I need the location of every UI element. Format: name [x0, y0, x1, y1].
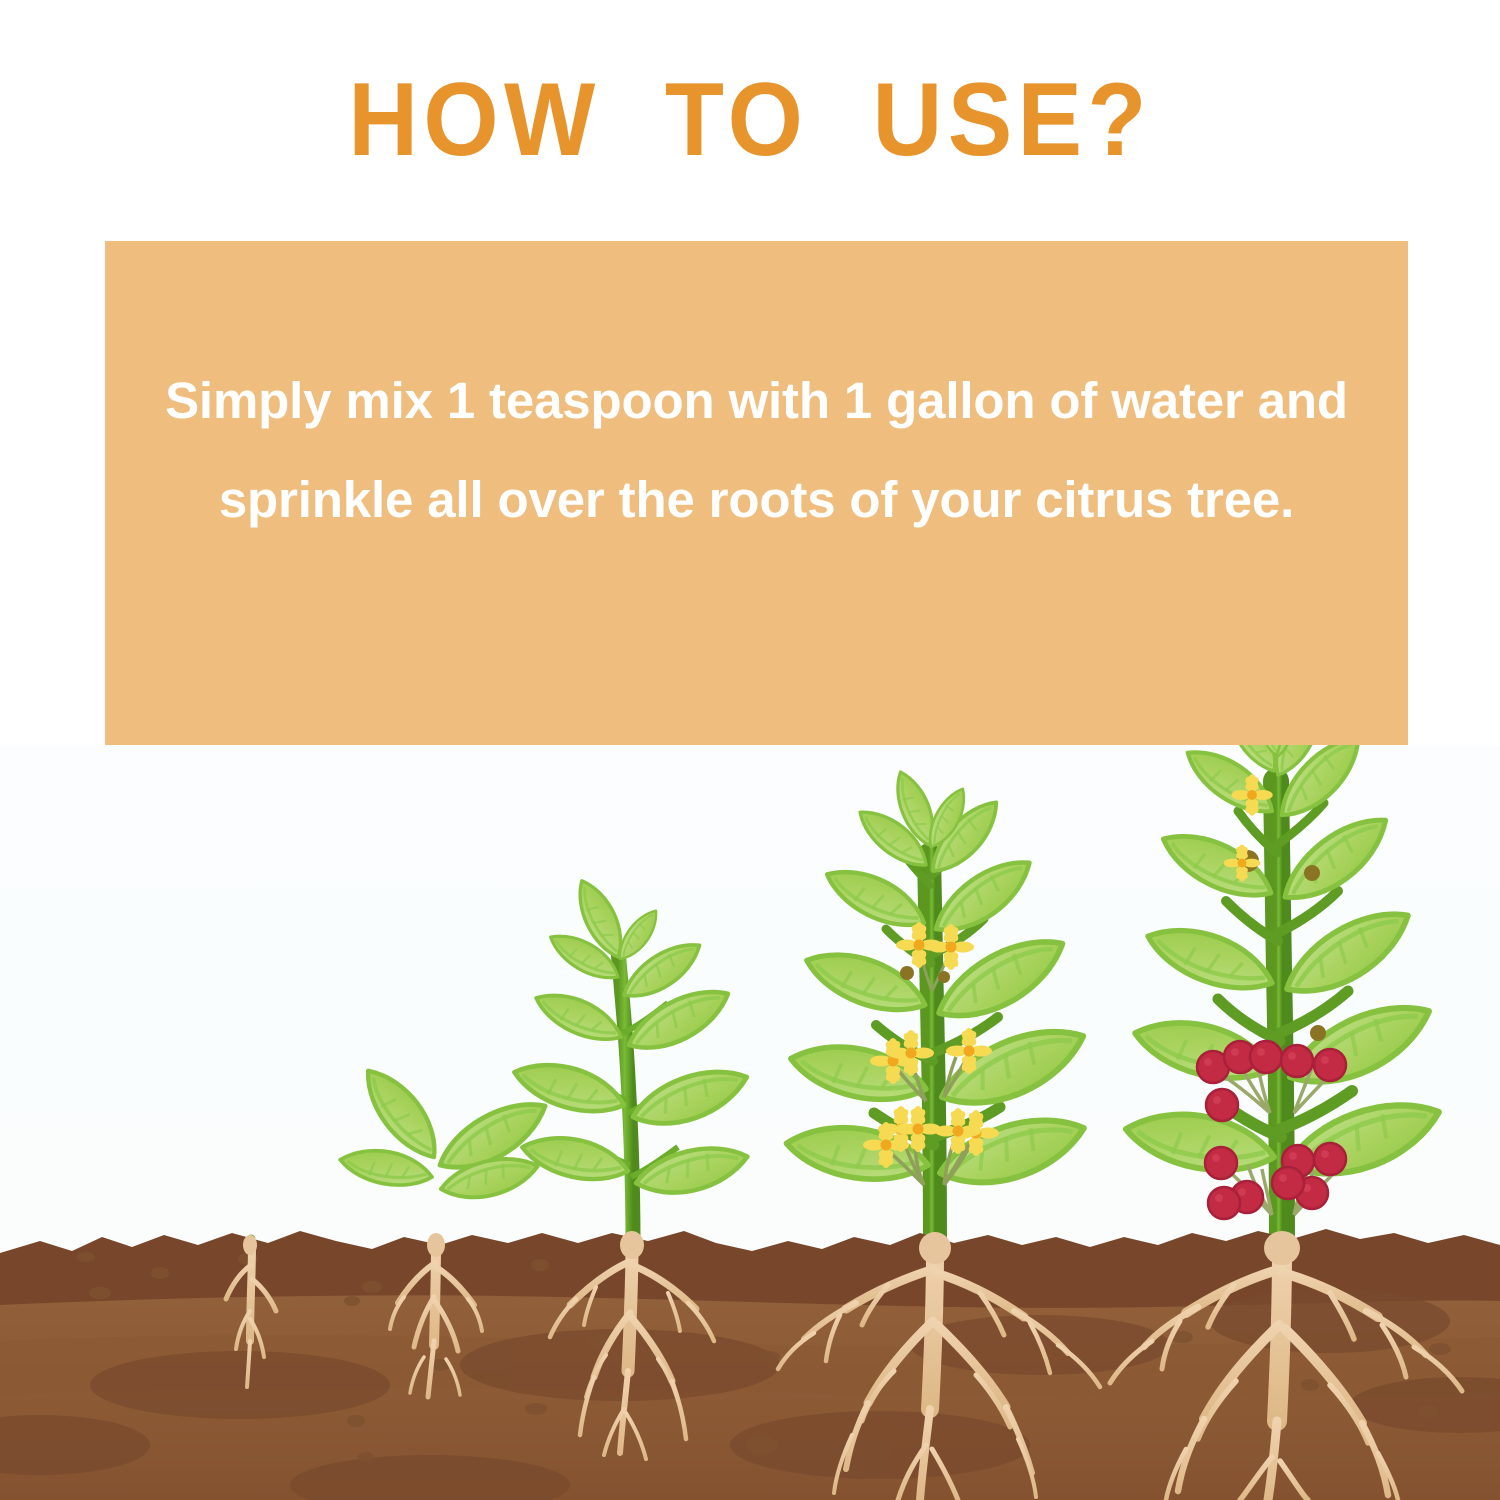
plant-stage-4-flowering-plant — [782, 767, 1094, 1250]
soil-cross-section — [0, 1229, 1500, 1500]
instruction-text: Simply mix 1 teaspoon with 1 gallon of w… — [165, 351, 1348, 549]
plant-growth-illustration — [0, 745, 1500, 1500]
how-to-use-infographic: HOW TO USE? Simply mix 1 teaspoon with 1… — [0, 0, 1500, 1500]
plant-growth-svg — [0, 745, 1500, 1500]
bud-icon — [1310, 1025, 1326, 1041]
bud-icon — [1304, 865, 1320, 881]
plant-stage-5-fruiting-plant — [1121, 745, 1448, 1250]
plant-stage-3-young-plant — [509, 874, 753, 1245]
instruction-panel: Simply mix 1 teaspoon with 1 gallon of w… — [105, 241, 1408, 745]
page-title: HOW TO USE? — [53, 68, 1448, 172]
